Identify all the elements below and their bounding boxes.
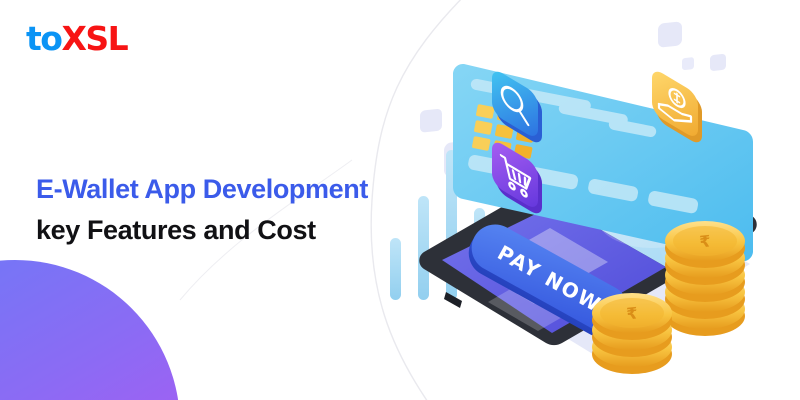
coin-stack: ₹ [665,221,745,336]
headline-line-1: E-Wallet App Development [36,176,436,203]
coin-pile: ₹ [592,293,672,374]
decor-purple-blob [0,260,180,400]
headline-line-2: key Features and Cost [36,217,436,244]
coin-top: ₹ [665,221,745,268]
logo-text-sl: SL [85,19,127,58]
headline-block: E-Wallet App Development key Features an… [36,176,436,244]
logo-text-to: to [26,19,61,58]
coin-top: ₹ [592,293,672,340]
brand-logo[interactable]: toXSL [26,22,127,55]
banner-root: toXSL E-Wallet App Development key Featu… [0,0,800,400]
illustration-isometric-wallet: PAY NOW [380,20,800,400]
svg-text:₹: ₹ [626,303,639,323]
logo-text-x: X [61,19,85,58]
svg-text:₹: ₹ [699,231,712,251]
